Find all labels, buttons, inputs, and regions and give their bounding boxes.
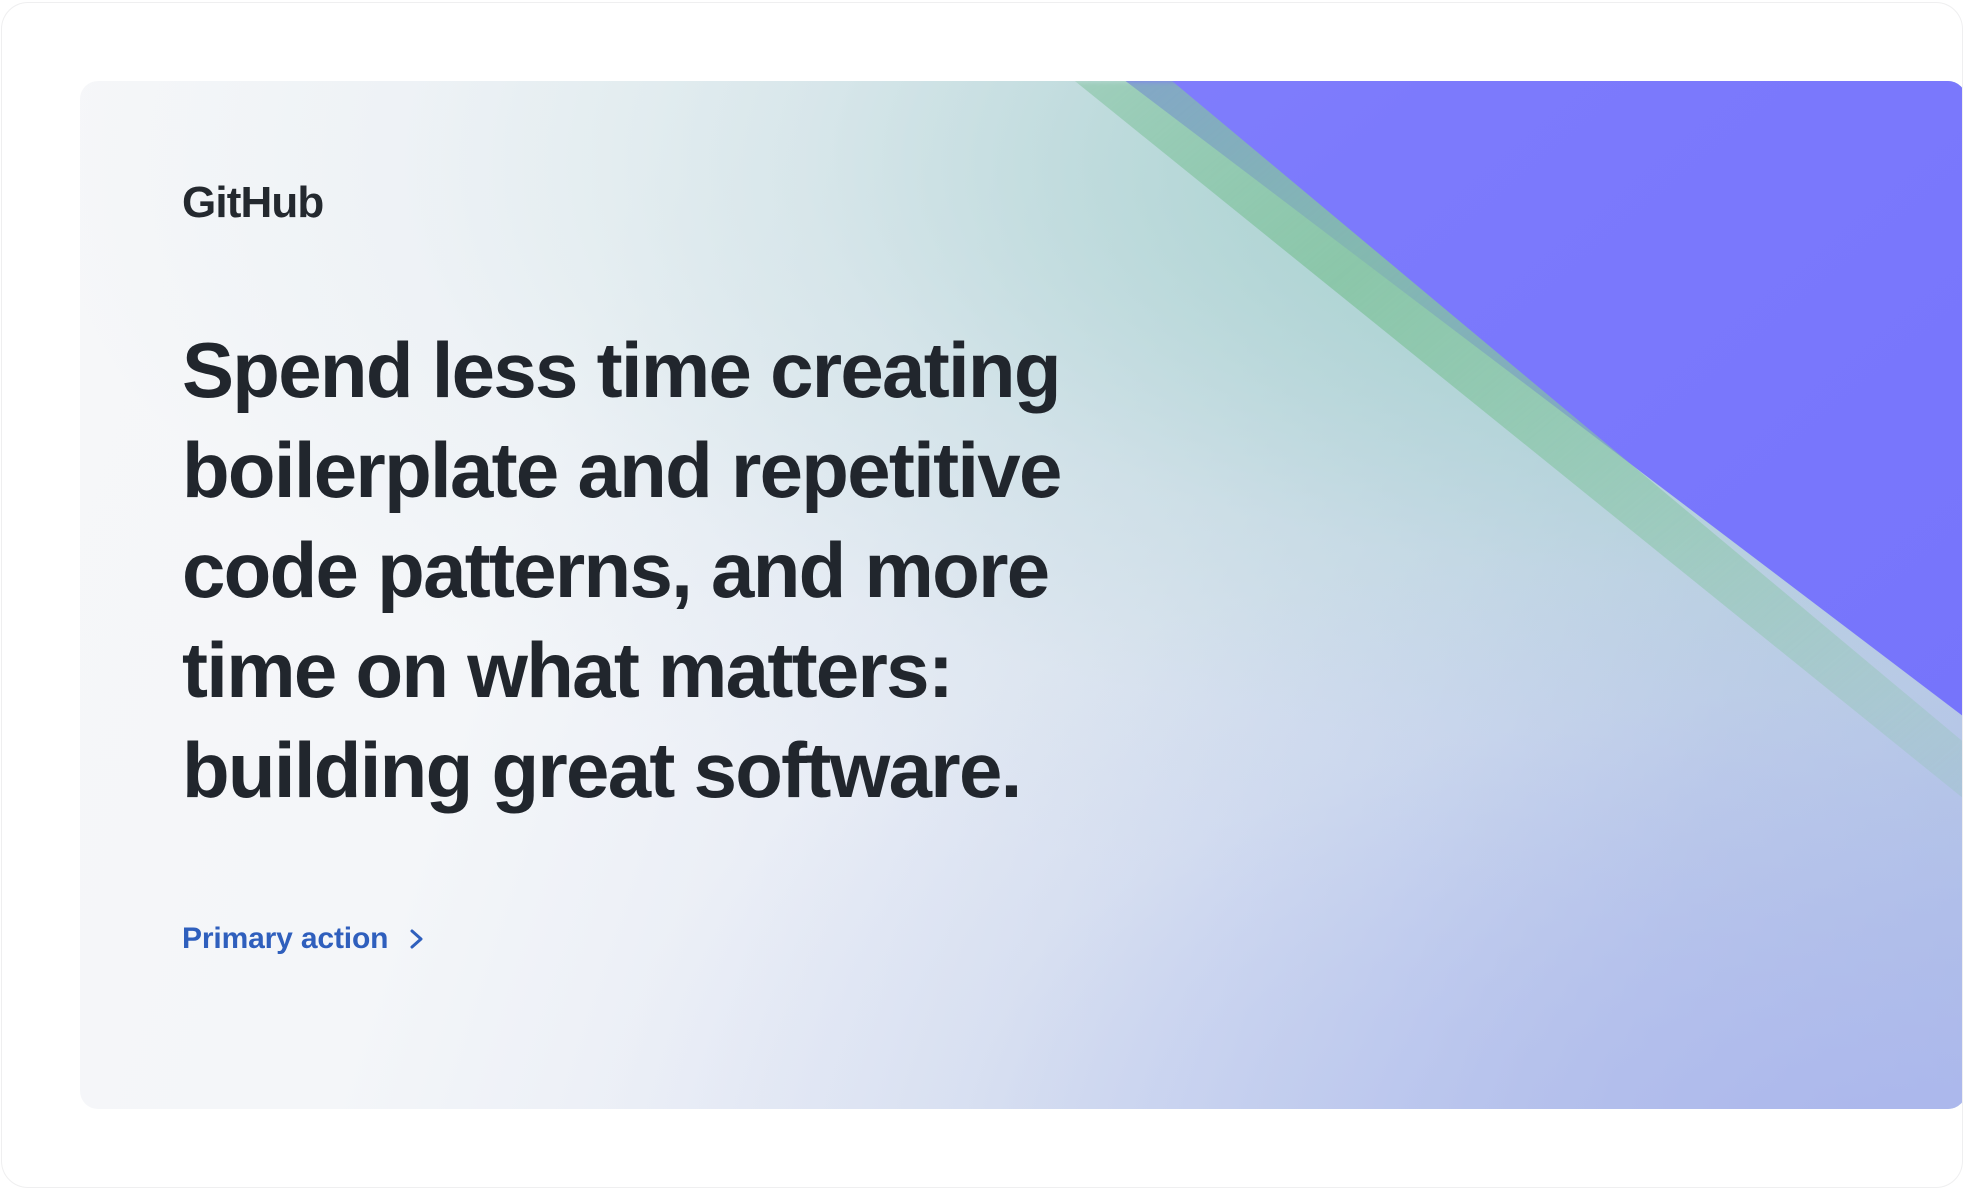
hero-card-content: GitHub Spend less time creating boilerpl… bbox=[182, 181, 1242, 956]
hero-card: GitHub Spend less time creating boilerpl… bbox=[80, 81, 1962, 1109]
primary-action-link[interactable]: Primary action bbox=[182, 922, 428, 956]
primary-action-label: Primary action bbox=[182, 922, 388, 956]
brand-wordmark: GitHub bbox=[182, 181, 1242, 225]
chevron-right-icon bbox=[406, 924, 428, 954]
page-surface: GitHub Spend less time creating boilerpl… bbox=[2, 3, 1962, 1187]
hero-headline: Spend less time creating boilerplate and… bbox=[182, 320, 1182, 820]
